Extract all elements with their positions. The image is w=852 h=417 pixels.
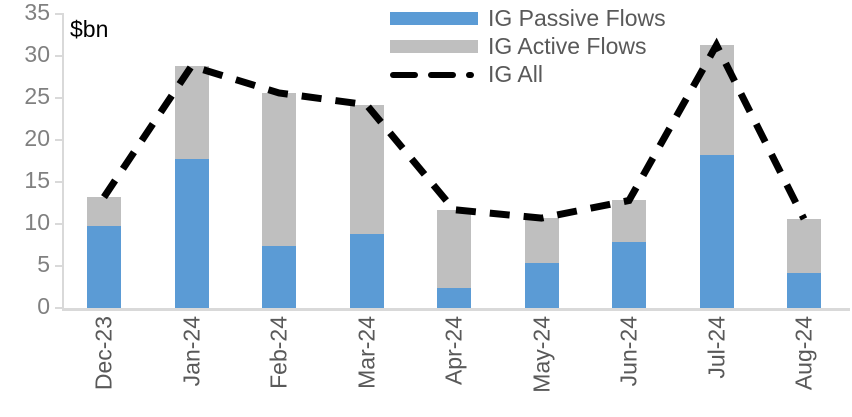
bar-segment-active[interactable] [700,45,734,155]
y-axis-tick-mark [55,13,63,15]
x-axis-tick-label: May-24 [525,316,559,416]
x-axis-tick-label: Jun-24 [612,316,646,416]
bar-segment-passive[interactable] [612,242,646,308]
bar-group[interactable] [175,14,209,308]
bar-segment-active[interactable] [437,210,471,288]
plot-area [64,14,850,308]
bar-segment-passive[interactable] [700,155,734,308]
y-axis-tick-mark [55,97,63,99]
bar-group[interactable] [87,14,121,308]
bar-group[interactable] [700,14,734,308]
bar-group[interactable] [525,14,559,308]
y-axis-tick-label: 35 [4,1,50,24]
y-axis-tick-label: 25 [4,85,50,108]
y-axis-tick-label: 0 [4,295,50,318]
x-axis-tick-label-text: May-24 [530,316,553,393]
bar-segment-active[interactable] [787,219,821,273]
bar-segment-active[interactable] [262,93,296,246]
y-axis-tick-mark [55,265,63,267]
y-axis-tick-mark [55,223,63,225]
bar-group[interactable] [262,14,296,308]
x-axis-tick-label: Jan-24 [175,316,209,416]
bar-group[interactable] [787,14,821,308]
y-axis-tick-mark [55,181,63,183]
bar-segment-passive[interactable] [262,246,296,308]
bar-group[interactable] [350,14,384,308]
x-axis-tick-label-text: Dec-23 [93,316,116,390]
bar-segment-active[interactable] [87,197,121,226]
y-axis-tick-mark [55,55,63,57]
bar-group[interactable] [437,14,471,308]
x-axis-tick-label-text: Apr-24 [443,316,466,385]
chart-container: 35302520151050 $bn IG Passive Flows IG A… [0,0,852,417]
x-axis-tick-label-text: Feb-24 [268,316,291,389]
x-axis-tick-label: Jul-24 [700,316,734,416]
bar-segment-active[interactable] [175,66,209,159]
y-axis-tick-label: 10 [4,211,50,234]
x-axis-tick-label: Dec-23 [87,316,121,416]
x-axis-tick-label: Apr-24 [437,316,471,416]
bar-segment-active[interactable] [612,200,646,241]
y-axis-tick-label: 20 [4,127,50,150]
x-axis-tick-label-text: Jul-24 [705,316,728,379]
y-axis-tick-label: 30 [4,43,50,66]
x-axis-line [62,308,850,311]
bar-segment-active[interactable] [350,105,384,234]
x-axis-tick-label: Mar-24 [350,316,384,416]
x-axis-tick-label-text: Aug-24 [793,316,816,390]
x-axis-tick-label-text: Mar-24 [355,316,378,389]
bar-segment-passive[interactable] [350,234,384,308]
bar-segment-passive[interactable] [87,226,121,308]
bar-segment-passive[interactable] [437,288,471,308]
bar-segment-passive[interactable] [787,273,821,308]
bar-segment-passive[interactable] [175,159,209,308]
x-axis-tick-label: Aug-24 [787,316,821,416]
y-axis-tick-mark [55,139,63,141]
bar-segment-active[interactable] [525,218,559,263]
x-axis-tick-label-text: Jun-24 [618,316,641,386]
bar-segment-passive[interactable] [525,263,559,308]
y-axis-tick-label: 15 [4,169,50,192]
bar-group[interactable] [612,14,646,308]
x-axis-tick-label: Feb-24 [262,316,296,416]
x-axis-tick-label-text: Jan-24 [180,316,203,386]
y-axis-labels: 35302520151050 [0,0,50,417]
y-axis-tick-label: 5 [4,253,50,276]
